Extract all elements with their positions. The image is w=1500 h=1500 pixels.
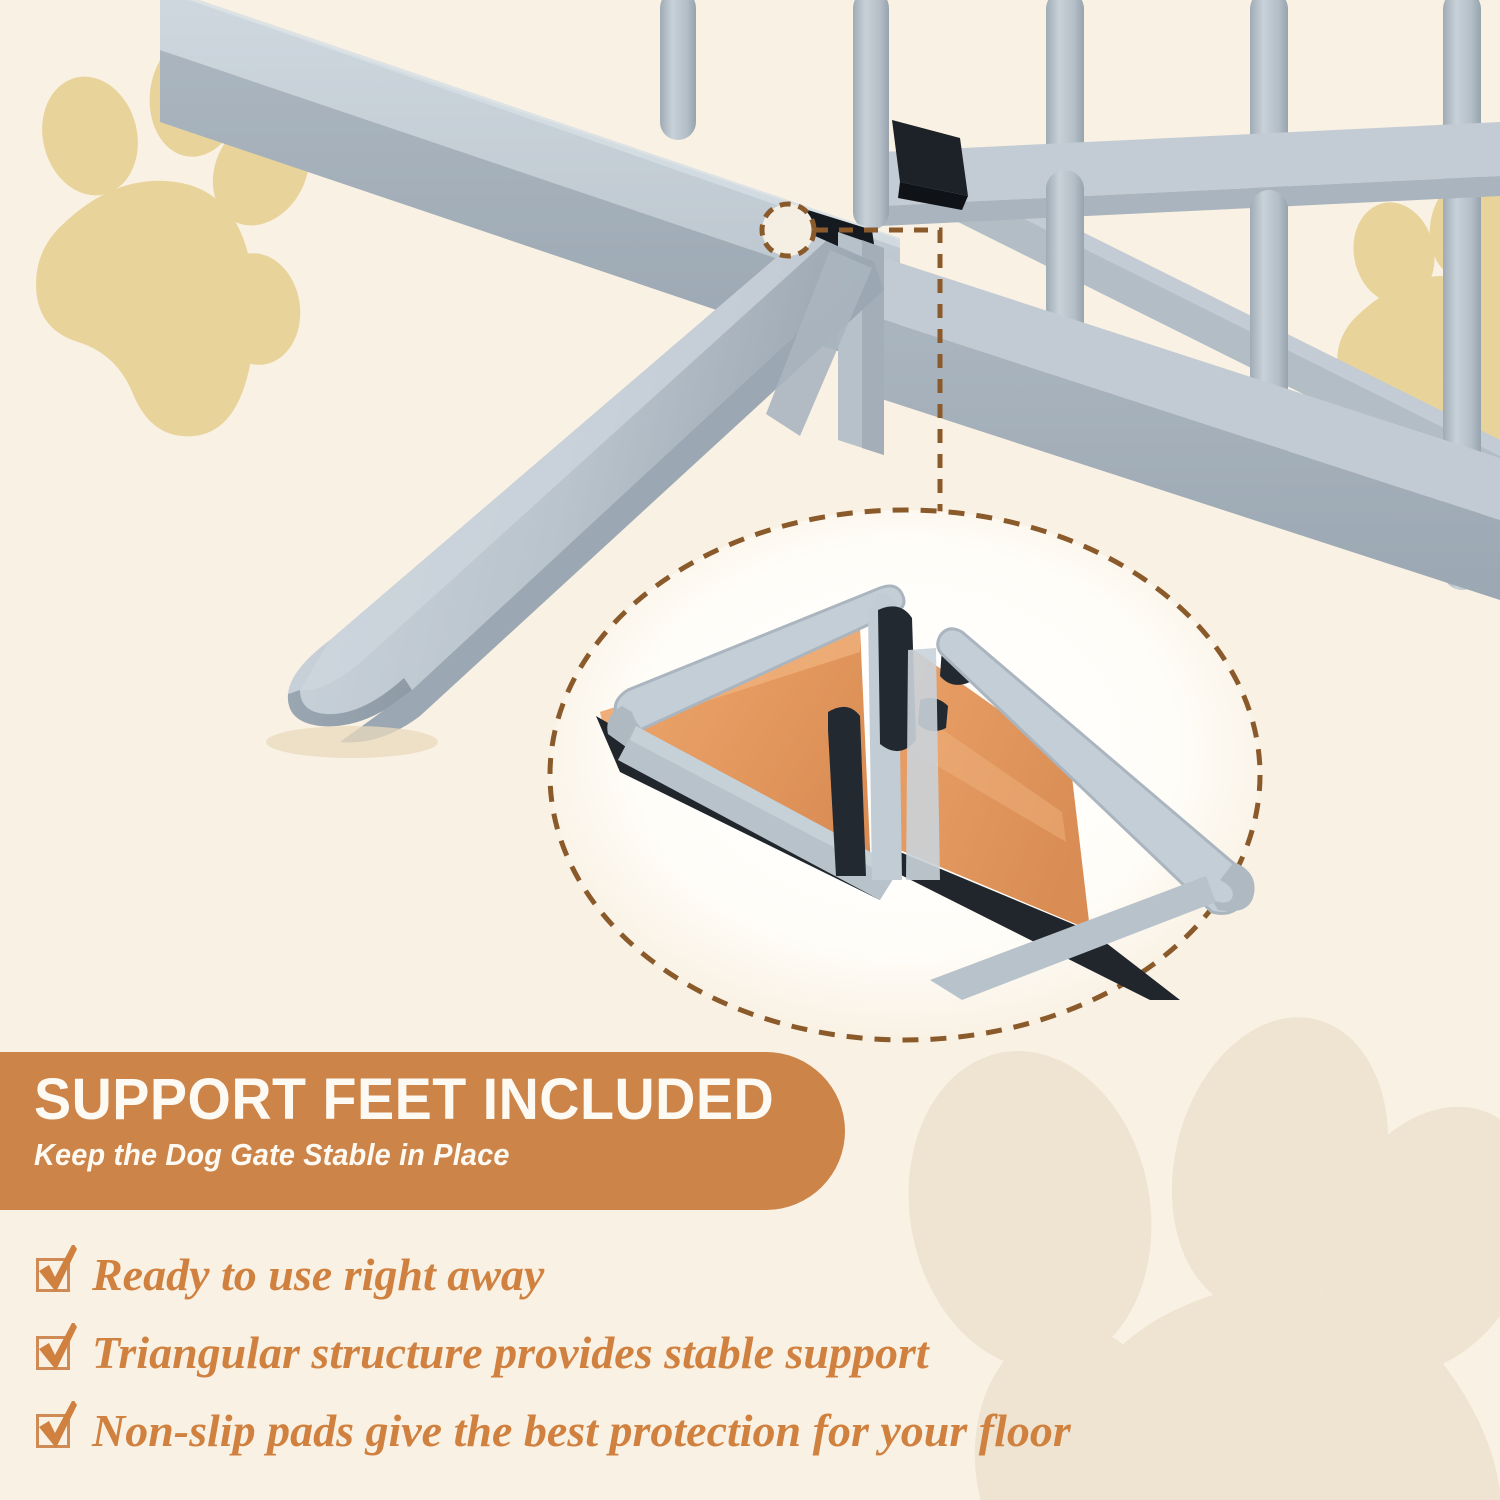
list-item: Triangular structure provides stable sup… <box>34 1314 1334 1392</box>
magnified-callout <box>550 510 1260 1040</box>
feature-list: Ready to use right away Triangular struc… <box>34 1236 1334 1470</box>
product-feature-poster: SUPPORT FEET INCLUDED Keep the Dog Gate … <box>0 0 1500 1500</box>
banner-title: SUPPORT FEET INCLUDED <box>34 1070 813 1129</box>
feature-label: Non-slip pads give the best protection f… <box>92 1408 1071 1454</box>
headline-banner: SUPPORT FEET INCLUDED Keep the Dog Gate … <box>0 1052 845 1210</box>
support-foot-inner-strut <box>906 648 940 880</box>
feature-label: Triangular structure provides stable sup… <box>92 1330 929 1376</box>
banner-subtitle: Keep the Dog Gate Stable in Place <box>34 1137 788 1173</box>
checkbox-checked-icon <box>34 1254 76 1296</box>
callout-origin-marker <box>762 204 814 256</box>
feature-label: Ready to use right away <box>92 1252 544 1298</box>
checkbox-checked-icon <box>34 1410 76 1452</box>
checkbox-checked-icon <box>34 1332 76 1374</box>
list-item: Non-slip pads give the best protection f… <box>34 1392 1334 1470</box>
list-item: Ready to use right away <box>34 1236 1334 1314</box>
